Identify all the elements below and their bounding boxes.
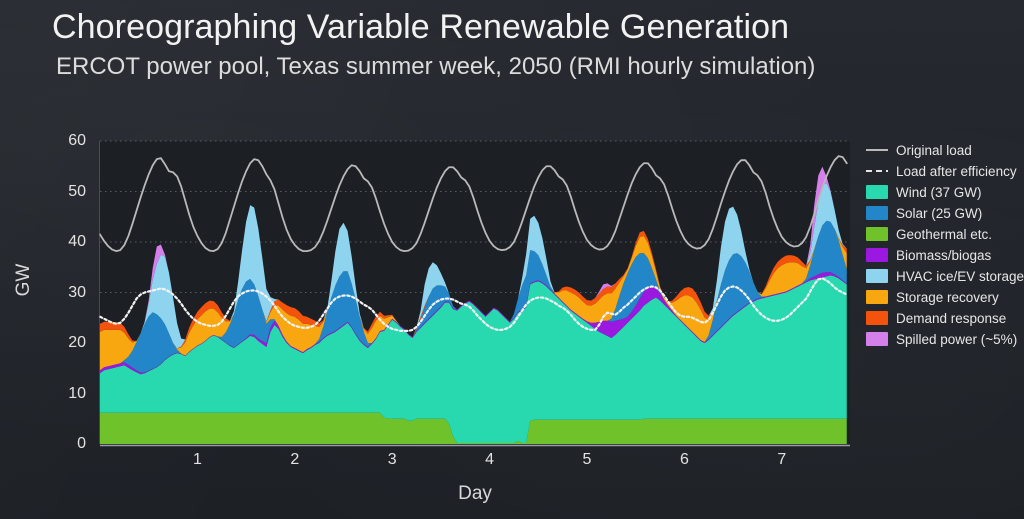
legend-key-demand-response-icon: [866, 311, 888, 325]
y-axis-label: GW: [13, 264, 35, 297]
legend-item-biomass[interactable]: Biomass/biogas: [866, 245, 1024, 265]
legend-label: Geothermal etc.: [896, 227, 992, 242]
y-tick-label: 30: [46, 284, 86, 302]
y-tick-label: 50: [46, 183, 86, 201]
x-tick-label: 5: [583, 451, 592, 469]
y-tick-label: 10: [46, 385, 86, 403]
legend-item-storage-recovery[interactable]: Storage recovery: [866, 287, 1024, 307]
y-axis-ticks: 0102030405060: [40, 0, 86, 519]
legend-item-load-after-efficiency[interactable]: Load after efficiency: [866, 161, 1024, 181]
y-tick-label: 20: [46, 334, 86, 352]
legend-key-solar-icon: [866, 206, 888, 220]
x-axis-ticks: 1234567: [0, 451, 1024, 475]
x-tick-label: 3: [388, 451, 397, 469]
legend-item-demand-response[interactable]: Demand response: [866, 308, 1024, 328]
legend-label: HVAC ice/EV storage: [896, 269, 1024, 284]
x-axis-label: Day: [458, 483, 492, 505]
legend-label: Original load: [896, 143, 972, 158]
legend-key-spilled-power-icon: [866, 332, 888, 346]
legend-label: Load after efficiency: [896, 164, 1017, 179]
legend-item-original-load[interactable]: Original load: [866, 140, 1024, 160]
chart-legend: Original loadLoad after efficiencyWind (…: [866, 140, 1024, 350]
x-tick-label: 7: [777, 451, 786, 469]
x-tick-label: 2: [290, 451, 299, 469]
legend-label: Storage recovery: [896, 290, 999, 305]
legend-label: Solar (25 GW): [896, 206, 982, 221]
y-tick-label: 60: [46, 132, 86, 150]
legend-item-geothermal[interactable]: Geothermal etc.: [866, 224, 1024, 244]
legend-key-biomass-icon: [866, 248, 888, 262]
y-tick-label: 40: [46, 233, 86, 251]
x-tick-label: 1: [193, 451, 202, 469]
legend-item-hvac[interactable]: HVAC ice/EV storage: [866, 266, 1024, 286]
legend-key-geothermal-icon: [866, 227, 888, 241]
legend-key-storage-recovery-icon: [866, 290, 888, 304]
legend-key-load-after-efficiency-icon: [866, 164, 888, 178]
legend-key-hvac-icon: [866, 269, 888, 283]
legend-item-wind[interactable]: Wind (37 GW): [866, 182, 1024, 202]
legend-label: Wind (37 GW): [896, 185, 982, 200]
legend-key-original-load-icon: [866, 143, 888, 157]
x-tick-label: 4: [485, 451, 494, 469]
legend-label: Biomass/biogas: [896, 248, 991, 263]
legend-item-spilled-power[interactable]: Spilled power (~5%): [866, 329, 1024, 349]
slide-root: Choreographing Variable Renewable Genera…: [0, 0, 1024, 519]
legend-key-wind-icon: [866, 185, 888, 199]
legend-item-solar[interactable]: Solar (25 GW): [866, 203, 1024, 223]
legend-label: Spilled power (~5%): [896, 332, 1017, 347]
legend-label: Demand response: [896, 311, 1006, 326]
x-tick-label: 6: [680, 451, 689, 469]
